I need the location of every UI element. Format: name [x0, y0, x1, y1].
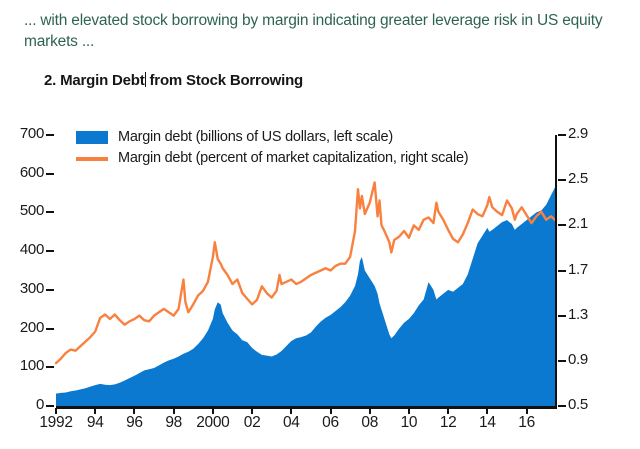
x-axis-label: 14 — [479, 414, 496, 432]
left-axis-label: 0 — [36, 396, 44, 413]
figure-container: ... with elevated stock borrowing by mar… — [0, 0, 640, 449]
left-axis-tick — [46, 134, 54, 136]
right-axis-label: 2.9 — [568, 125, 588, 142]
x-axis-label: 04 — [283, 414, 300, 432]
left-axis-label: 700 — [20, 125, 44, 142]
x-axis-label: 98 — [165, 414, 182, 432]
legend-label-area: Margin debt (billions of US dollars, lef… — [118, 128, 393, 146]
left-axis-tick — [46, 211, 54, 213]
x-axis-label: 06 — [322, 414, 339, 432]
x-axis-label: 96 — [126, 414, 143, 432]
left-axis-label: 500 — [20, 202, 44, 219]
x-axis-label: 02 — [244, 414, 261, 432]
x-axis-label: 08 — [361, 414, 378, 432]
series-area-margin-debt-billions — [56, 185, 556, 406]
right-axis-label: 2.1 — [568, 215, 588, 232]
right-axis-label: 2.5 — [568, 170, 588, 187]
right-axis-tick — [558, 405, 566, 407]
left-axis-tick — [46, 173, 54, 175]
left-axis-label: 400 — [20, 241, 44, 258]
left-axis-tick — [46, 289, 54, 291]
right-axis-label: 0.5 — [568, 396, 588, 413]
x-axis-label: 1992 — [39, 414, 72, 432]
x-axis-label: 2000 — [196, 414, 229, 432]
right-axis-label: 0.9 — [568, 351, 588, 368]
legend-label-line: Margin debt (percent of market capitaliz… — [118, 149, 468, 167]
chart-plot-area — [0, 0, 640, 449]
x-axis-label: 12 — [440, 414, 457, 432]
right-axis-line — [555, 135, 558, 408]
right-axis-tick — [558, 224, 566, 226]
line-swatch-icon — [76, 157, 108, 161]
right-axis-tick — [558, 179, 566, 181]
left-axis-label: 200 — [20, 319, 44, 336]
left-axis-tick — [46, 250, 54, 252]
x-axis-line — [56, 406, 557, 409]
x-axis-label: 10 — [401, 414, 418, 432]
left-axis-tick — [46, 328, 54, 330]
right-axis-label: 1.7 — [568, 261, 588, 278]
x-axis-label: 94 — [87, 414, 104, 432]
right-axis-tick — [558, 134, 566, 136]
left-axis-tick — [46, 366, 54, 368]
legend: Margin debt (billions of US dollars, lef… — [76, 128, 468, 170]
x-axis-label: 16 — [518, 414, 535, 432]
right-axis-tick — [558, 270, 566, 272]
left-axis-label: 100 — [20, 357, 44, 374]
legend-item-line: Margin debt (percent of market capitaliz… — [76, 149, 468, 167]
legend-item-area: Margin debt (billions of US dollars, lef… — [76, 128, 468, 146]
right-axis-label: 1.3 — [568, 306, 588, 323]
right-axis-tick — [558, 360, 566, 362]
left-axis-label: 300 — [20, 280, 44, 297]
area-swatch-icon — [76, 131, 108, 144]
left-axis-tick — [46, 405, 54, 407]
right-axis-tick — [558, 315, 566, 317]
left-axis-label: 600 — [20, 164, 44, 181]
